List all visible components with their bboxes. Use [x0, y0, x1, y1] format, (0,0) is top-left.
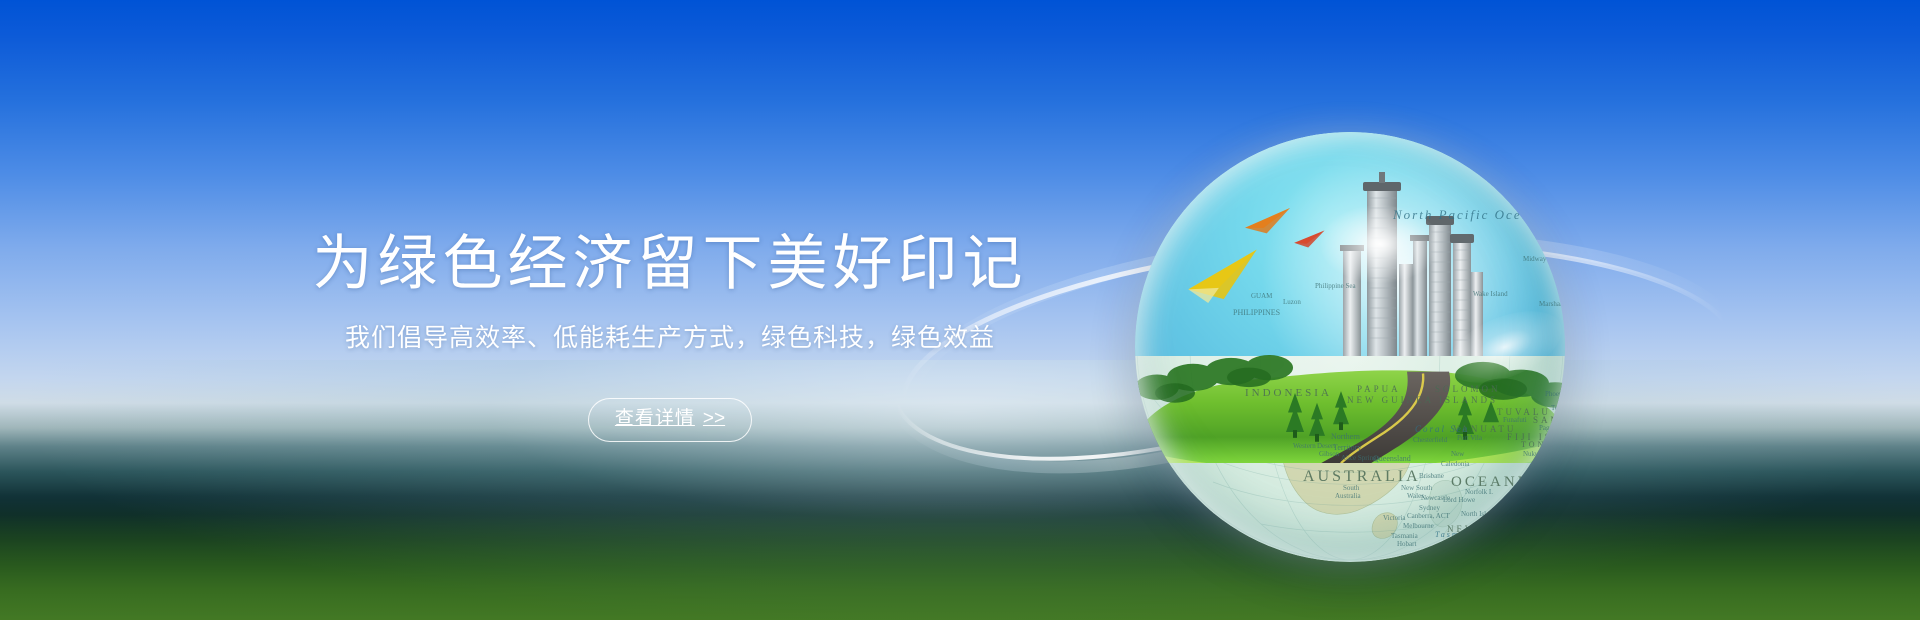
- view-details-label: 查看详情: [615, 408, 695, 429]
- page-title: 为绿色经济留下美好印记: [0, 225, 1340, 303]
- view-details-button[interactable]: 查看详情>>: [588, 398, 752, 442]
- map-label: Auckland Is.: [1445, 556, 1481, 562]
- banner-subtitle: 我们倡导高效率、低能耗生产方式，绿色科技，绿色效益: [0, 320, 1340, 356]
- map-label: Stewart I.: [1455, 546, 1482, 554]
- map-label: South Island: [1457, 536, 1492, 544]
- cta-row: 查看详情>>: [0, 398, 1340, 442]
- chevron-right-icon: >>: [703, 408, 725, 429]
- sky-ground-gradient: [0, 0, 1920, 620]
- hero-banner: North Pacific OceanMidwayWake IslandMars…: [0, 0, 1920, 620]
